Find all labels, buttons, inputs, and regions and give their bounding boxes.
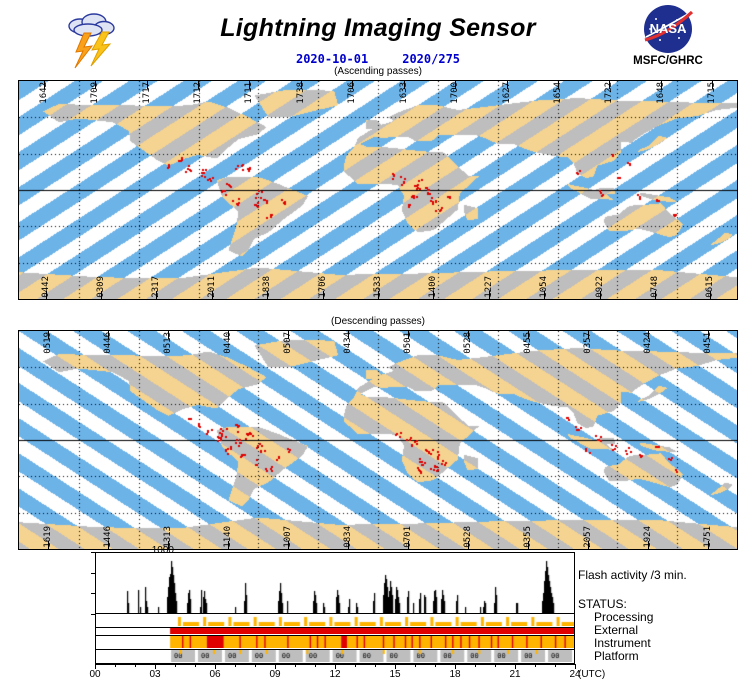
x-axis-tick-label: 18 <box>440 669 470 680</box>
x-axis-tick-label: 12 <box>320 669 350 680</box>
orbit-tick-mark <box>507 80 508 89</box>
instrument-status-canvas <box>96 636 574 648</box>
platform-status-canvas <box>96 650 574 662</box>
day-of-year: 2020/275 <box>402 52 460 66</box>
x-axis-tick <box>475 664 476 667</box>
orbit-tick-mark <box>44 80 45 89</box>
descending-map-frame <box>18 330 738 550</box>
orbit-tick-mark <box>168 330 169 339</box>
x-axis-tick <box>135 664 136 667</box>
orbit-tick-mark <box>661 80 662 89</box>
x-axis-tick-label: 21 <box>500 669 530 680</box>
orbit-tick-mark <box>348 541 349 550</box>
orbit-tick-mark <box>408 330 409 339</box>
orbit-tick-mark <box>544 291 545 300</box>
orbit-tick-mark <box>249 80 250 89</box>
orbit-tick-mark <box>489 291 490 300</box>
x-axis-tick <box>315 664 316 667</box>
orbit-tick-mark <box>648 330 649 339</box>
utc-unit-label: (UTC) <box>578 669 605 680</box>
orbit-tick-mark <box>408 541 409 550</box>
observation-date: 2020-10-01 <box>296 52 368 66</box>
x-axis-tick <box>255 664 256 667</box>
flash-activity-canvas <box>96 553 574 613</box>
x-axis-tick-label: 03 <box>140 669 170 680</box>
orbit-tick-mark <box>378 291 379 300</box>
orbit-tick-mark <box>468 330 469 339</box>
x-axis-tick <box>195 664 196 667</box>
x-axis-tick <box>355 664 356 667</box>
orbit-tick-mark <box>108 541 109 550</box>
ascending-map-frame <box>18 80 738 300</box>
status-row-processing[interactable] <box>95 614 575 628</box>
x-axis-tick-label: 09 <box>260 669 290 680</box>
orbit-tick-mark <box>288 541 289 550</box>
orbit-tick-mark <box>288 330 289 339</box>
orbit-tick-mark <box>48 541 49 550</box>
orbit-tick-mark <box>528 330 529 339</box>
orbit-tick-mark <box>609 80 610 89</box>
orbit-tick-mark <box>588 330 589 339</box>
x-axis-tick-label: 06 <box>200 669 230 680</box>
x-axis-tick <box>375 664 376 667</box>
svg-text:NASA: NASA <box>650 21 687 36</box>
orbit-tick-mark <box>301 80 302 89</box>
orbit-tick-mark <box>455 80 456 89</box>
x-axis-tick <box>435 664 436 667</box>
ascending-pass-caption: (Ascending passes) <box>0 66 756 77</box>
external-status-canvas <box>96 628 574 634</box>
descending-map-canvas <box>19 331 737 549</box>
orbit-tick-mark <box>156 291 157 300</box>
status-row-platform[interactable] <box>95 650 575 664</box>
nasa-meatball-logo: NASA <box>630 4 706 54</box>
ascending-map[interactable]: 1642170917171712171117381706163317001627… <box>18 80 738 300</box>
orbit-tick-mark <box>433 291 434 300</box>
ascending-map-canvas <box>19 81 737 299</box>
x-axis-tick <box>175 664 176 667</box>
agency-label: MSFC/GHRC <box>615 55 721 67</box>
orbit-tick-mark <box>101 291 102 300</box>
orbit-tick-mark <box>348 330 349 339</box>
descending-map[interactable]: 0519044605130440050704340501052804550357… <box>18 330 738 550</box>
activity-panel: 1000100101 000306091215182124 (UTC) Flas… <box>0 550 756 680</box>
x-axis-tick <box>415 664 416 667</box>
orbit-tick-mark <box>404 80 405 89</box>
flash-activity-legend-label: Flash activity /3 min. <box>578 568 687 582</box>
page-header: Lightning Imaging Sensor 2020-10-012020/… <box>0 0 756 78</box>
orbit-tick-mark <box>708 330 709 339</box>
x-axis-tick-label: 00 <box>80 669 110 680</box>
flash-activity-plot[interactable] <box>95 552 575 614</box>
status-row-instrument[interactable] <box>95 636 575 650</box>
orbit-tick-mark <box>48 330 49 339</box>
orbit-tick-mark <box>600 291 601 300</box>
orbit-tick-mark <box>648 541 649 550</box>
status-legend: STATUS: Processing External Instrument P… <box>578 598 653 663</box>
processing-status-canvas <box>96 614 574 626</box>
orbit-tick-mark <box>108 330 109 339</box>
x-axis-tick <box>115 664 116 667</box>
orbit-tick-mark <box>712 80 713 89</box>
orbit-tick-mark <box>228 330 229 339</box>
x-axis-tick-label: 15 <box>380 669 410 680</box>
orbit-tick-mark <box>212 291 213 300</box>
status-legend-platform: Platform <box>594 650 653 663</box>
orbit-tick-mark <box>710 291 711 300</box>
orbit-tick-mark <box>352 80 353 89</box>
orbit-tick-mark <box>528 541 529 550</box>
x-axis-tick <box>495 664 496 667</box>
orbit-tick-mark <box>588 541 589 550</box>
descending-pass-caption: (Descending passes) <box>0 316 756 327</box>
status-row-external[interactable] <box>95 628 575 636</box>
orbit-tick-mark <box>198 80 199 89</box>
orbit-tick-mark <box>228 541 229 550</box>
orbit-tick-mark <box>147 80 148 89</box>
orbit-tick-mark <box>468 541 469 550</box>
orbit-tick-mark <box>655 291 656 300</box>
x-axis-tick <box>535 664 536 667</box>
orbit-tick-mark <box>558 80 559 89</box>
x-axis-tick <box>235 664 236 667</box>
orbit-tick-mark <box>46 291 47 300</box>
x-axis-tick <box>295 664 296 667</box>
orbit-tick-mark <box>323 291 324 300</box>
orbit-tick-mark <box>267 291 268 300</box>
orbit-tick-mark <box>95 80 96 89</box>
orbit-tick-mark <box>708 541 709 550</box>
x-axis-tick <box>555 664 556 667</box>
